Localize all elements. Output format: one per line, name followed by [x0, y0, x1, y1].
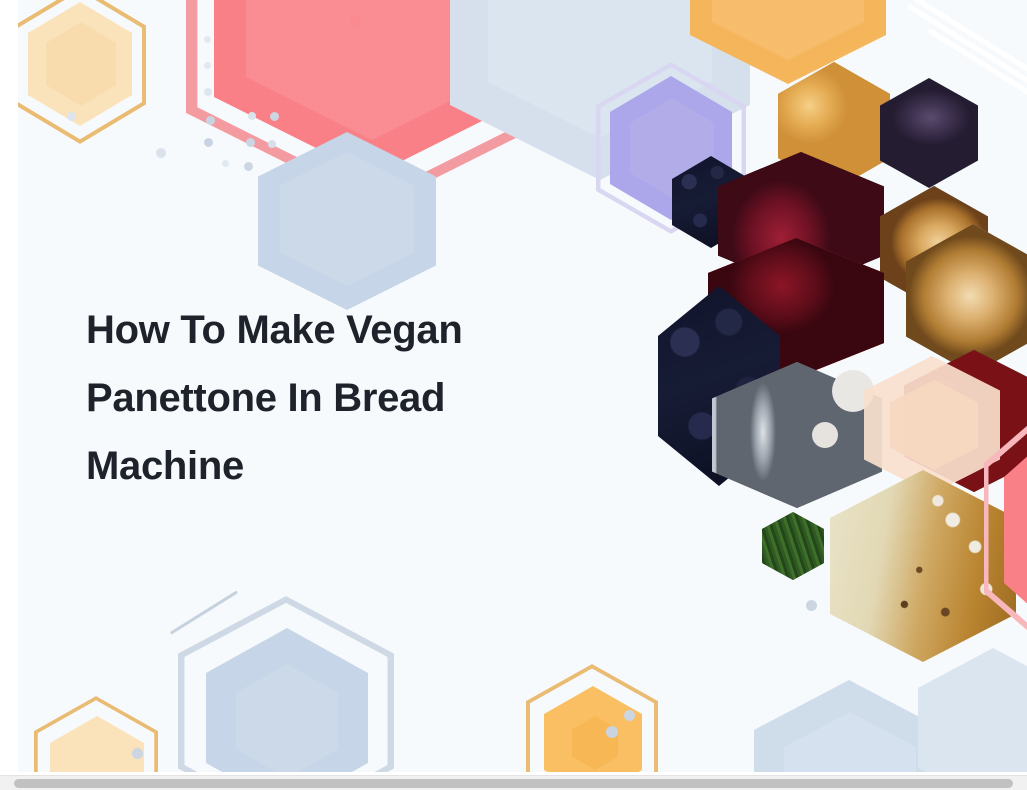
- photo-poppy-seed-bowl: [880, 78, 978, 188]
- hero-banner: How To Make Vegan Panettone In Bread Mac…: [18, 0, 1027, 772]
- decor-dot: [248, 112, 256, 120]
- decor-dot: [624, 710, 635, 721]
- decor-dot: [270, 112, 279, 121]
- decor-dot: [67, 112, 76, 121]
- decor-dot: [204, 36, 211, 43]
- blue-hex-far-bottom-right: [918, 648, 1027, 772]
- decor-dot: [156, 148, 166, 158]
- decor-dot: [132, 748, 143, 759]
- horizontal-scrollbar-thumb[interactable]: [14, 779, 1013, 788]
- decor-dot: [606, 726, 618, 738]
- decor-dot: [244, 162, 253, 171]
- page-root: How To Make Vegan Panettone In Bread Mac…: [0, 0, 1027, 790]
- decor-dot: [204, 62, 211, 69]
- decor-dot: [350, 16, 361, 27]
- horizontal-scrollbar-track[interactable]: [0, 775, 1027, 790]
- decor-dot: [806, 600, 817, 611]
- frame-edge-left: [0, 0, 18, 772]
- decor-dot: [222, 160, 229, 167]
- photo-rosemary-sprig: [762, 512, 824, 580]
- decor-dot: [246, 138, 255, 147]
- decor-dot: [206, 116, 215, 125]
- page-title: How To Make Vegan Panettone In Bread Mac…: [86, 296, 606, 500]
- decor-dot: [204, 88, 212, 96]
- decor-dot: [204, 138, 213, 147]
- decor-dot: [268, 140, 276, 148]
- decor-circle: [812, 422, 838, 448]
